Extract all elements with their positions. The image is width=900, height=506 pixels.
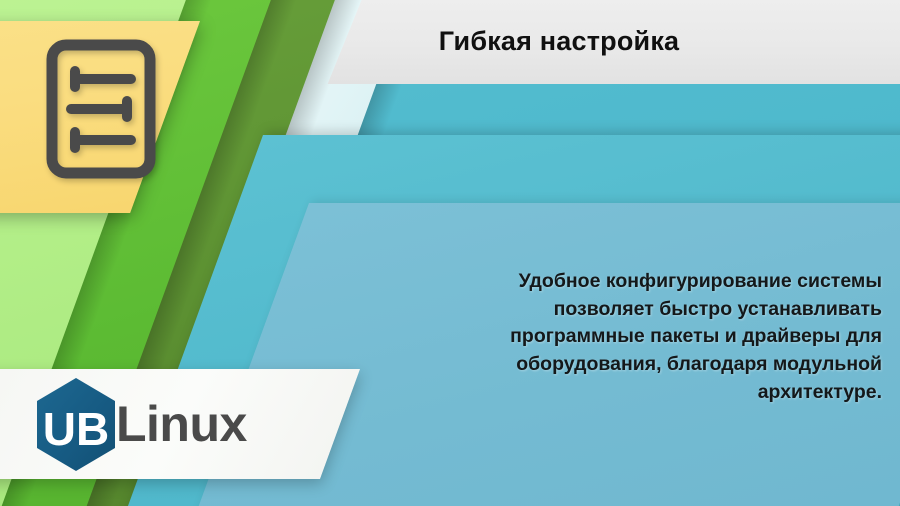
title-panel: Гибкая настройка <box>324 0 900 84</box>
logo-word-text: Linux <box>116 399 247 449</box>
brand-logo: UB Linux <box>34 374 247 474</box>
page-title: Гибкая настройка <box>439 26 680 57</box>
slide-canvas: UB Удобное конфигурирование системы позв… <box>0 0 900 506</box>
body-paragraph: Удобное конфигурирование системы позволя… <box>420 268 882 406</box>
ub-hexagon-icon: UB <box>34 377 118 472</box>
logo-mark-text: UB <box>43 403 109 455</box>
settings-sliders-icon <box>45 38 157 180</box>
